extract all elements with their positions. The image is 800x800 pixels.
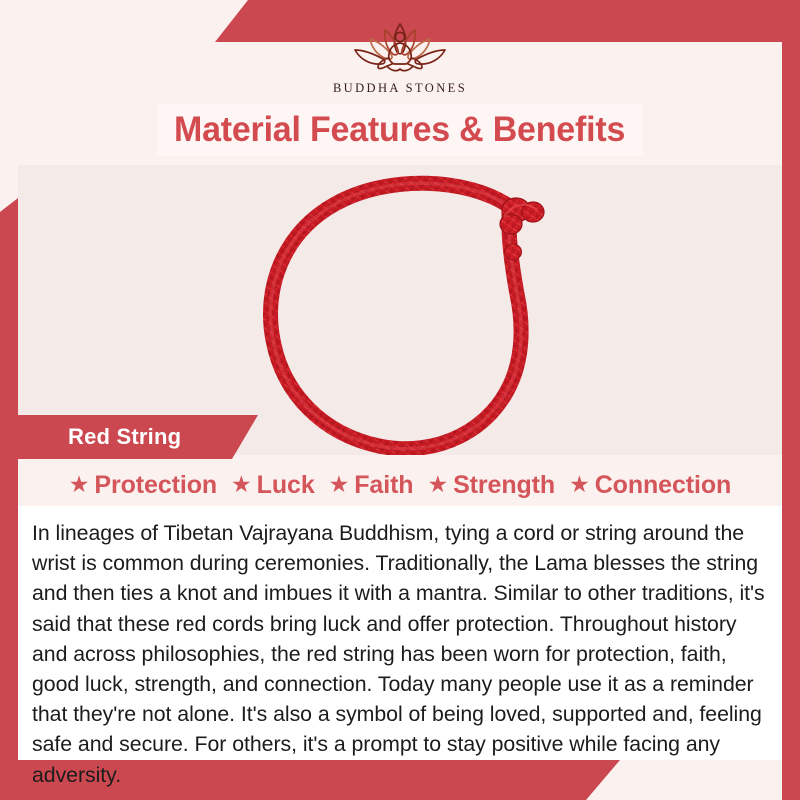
infographic-page: BUDDHA STONES Material Features & Benefi…: [0, 0, 800, 800]
decor-right-bar: [782, 42, 800, 800]
star-icon: ★: [69, 473, 90, 496]
star-icon: ★: [427, 473, 448, 496]
page-title: Material Features & Benefits: [174, 110, 625, 150]
description-paragraph: In lineages of Tibetan Vajrayana Buddhis…: [32, 518, 768, 790]
lotus-meditation-icon: [325, 14, 475, 80]
feature-label: Faith: [354, 471, 413, 500]
product-label-banner: Red String: [18, 415, 258, 459]
feature-item-connection: ★ Connection: [562, 471, 738, 500]
star-icon: ★: [569, 473, 590, 496]
star-icon: ★: [329, 473, 350, 496]
feature-list: ★ Protection ★ Luck ★ Faith ★ Strength ★…: [18, 464, 782, 506]
feature-label: Strength: [453, 471, 555, 500]
hero-image-band: [18, 165, 782, 455]
product-label-text: Red String: [68, 424, 181, 450]
feature-label: Connection: [595, 471, 732, 500]
feature-item-strength: ★ Strength: [420, 471, 562, 500]
feature-label: Luck: [257, 471, 315, 500]
brand-name: BUDDHA STONES: [333, 81, 467, 96]
page-title-band: Material Features & Benefits: [157, 104, 643, 156]
feature-item-luck: ★ Luck: [224, 471, 322, 500]
brand-logo: BUDDHA STONES: [0, 14, 800, 106]
red-braided-cord-bracelet-icon: [261, 165, 591, 455]
description-card: In lineages of Tibetan Vajrayana Buddhis…: [18, 506, 782, 760]
feature-item-faith: ★ Faith: [322, 471, 421, 500]
feature-item-protection: ★ Protection: [62, 471, 224, 500]
star-icon: ★: [231, 473, 252, 496]
feature-label: Protection: [94, 471, 217, 500]
decor-left-bar: [0, 198, 18, 800]
